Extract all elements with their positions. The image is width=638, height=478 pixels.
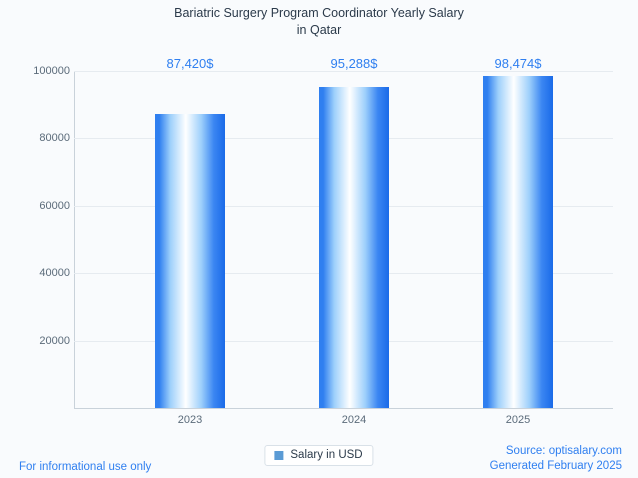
y-axis-tick-label: 60000	[4, 200, 70, 212]
bar-2025[interactable]	[483, 76, 553, 408]
bar-2023[interactable]	[155, 114, 225, 408]
bar-value-label-2025: 98,474$	[438, 56, 598, 71]
legend-swatch-icon	[274, 451, 283, 460]
y-axis-tick-labels: 100000 80000 60000 40000 20000	[0, 0, 70, 478]
x-axis-tick-label-2024: 2024	[294, 414, 414, 426]
generated-text: Generated February 2025	[490, 459, 622, 474]
chart-title: Bariatric Surgery Program Coordinator Ye…	[0, 5, 638, 39]
bar-value-label-2024: 95,288$	[274, 56, 434, 71]
source-block: Source: optisalary.com Generated Februar…	[490, 444, 622, 474]
source-text: Source: optisalary.com	[490, 444, 622, 459]
x-axis-line	[74, 408, 613, 409]
x-axis-tick-label-2025: 2025	[458, 414, 578, 426]
y-axis-tick-label: 80000	[4, 132, 70, 144]
legend-label: Salary in USD	[290, 449, 362, 461]
plot-area	[74, 71, 613, 408]
x-axis-tick-label-2023: 2023	[130, 414, 250, 426]
bar-2024[interactable]	[319, 87, 389, 408]
legend[interactable]: Salary in USD	[264, 445, 373, 466]
y-axis-tick-label: 40000	[4, 267, 70, 279]
y-axis-tick-label: 100000	[4, 65, 70, 77]
y-axis-tick-label: 20000	[4, 335, 70, 347]
disclaimer-text: For informational use only	[19, 461, 151, 473]
chart-container: Bariatric Surgery Program Coordinator Ye…	[0, 0, 638, 478]
bar-value-label-2023: 87,420$	[110, 56, 270, 71]
gridline	[74, 71, 613, 72]
